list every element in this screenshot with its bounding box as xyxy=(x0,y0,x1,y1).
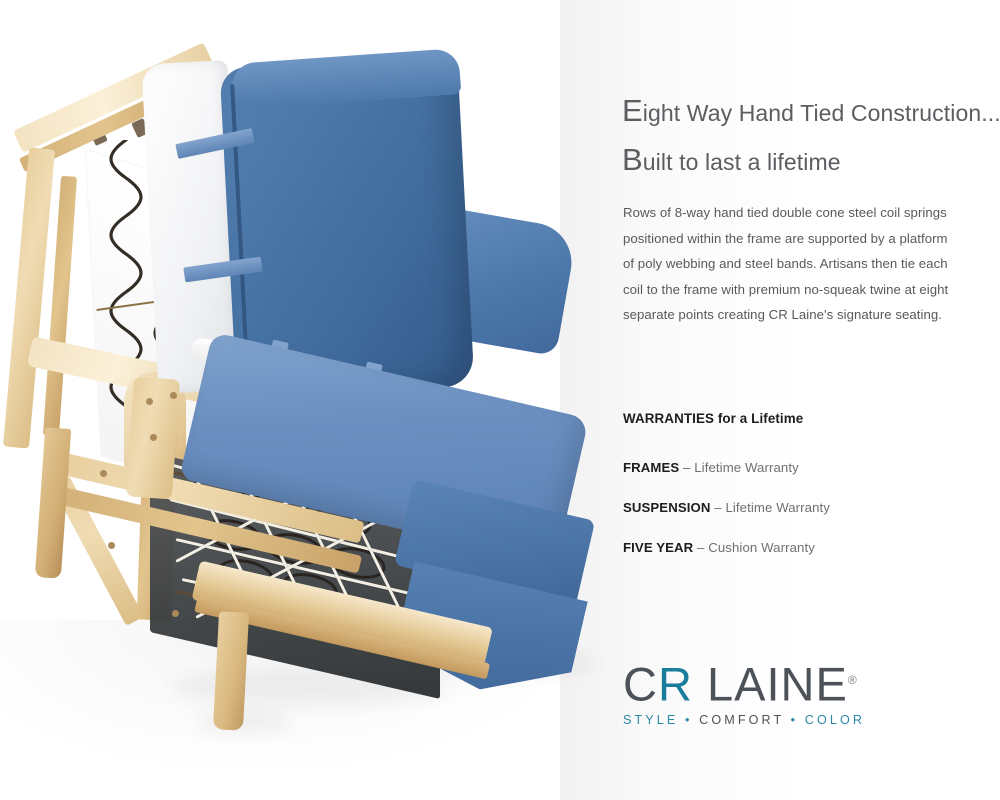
dowel-hole xyxy=(146,398,153,405)
tagline-dot-icon: • xyxy=(685,713,693,727)
headline-line-1-cap: E xyxy=(622,93,643,128)
logo-wordmark: CR LAINE® xyxy=(623,654,863,711)
shadow-leg-front xyxy=(196,712,292,732)
warranty-term: SUSPENSION xyxy=(623,500,710,515)
warranty-dash: – xyxy=(714,500,721,515)
logo-tagline: STYLE • COMFORT • COLOR xyxy=(623,713,863,727)
frame-leg-front xyxy=(213,611,249,730)
warranty-dash: – xyxy=(697,540,704,555)
warranty-desc: Cushion Warranty xyxy=(708,540,815,555)
logo-letter-r: R xyxy=(658,658,693,711)
dowel-hole xyxy=(170,392,177,399)
warranty-term: FRAMES xyxy=(623,460,679,475)
brand-logo: CR LAINE® STYLE • COMFORT • COLOR xyxy=(623,654,863,727)
warranties-heading: WARRANTIES for a Lifetime xyxy=(623,411,830,426)
warranty-row: FRAMES – Lifetime Warranty xyxy=(623,460,830,475)
logo-word-laine: LAINE xyxy=(693,658,848,711)
marketing-page: Eight Way Hand Tied Construction... Buil… xyxy=(0,0,1000,800)
headline-line-2: Built to last a lifetime xyxy=(622,143,1000,179)
headline-line-2-rest: uilt to last a lifetime xyxy=(643,149,841,175)
tagline-dot-icon: • xyxy=(791,713,799,727)
headline-line-1-rest: ight Way Hand Tied Construction... xyxy=(643,100,1000,126)
warranty-desc: Lifetime Warranty xyxy=(725,500,830,515)
warranty-desc: Lifetime Warranty xyxy=(694,460,799,475)
warranty-term: FIVE YEAR xyxy=(623,540,693,555)
dowel-hole xyxy=(172,610,179,617)
warranty-dash: – xyxy=(683,460,690,475)
dowel-hole xyxy=(150,434,157,441)
headline-line-2-cap: B xyxy=(622,142,643,177)
content-column: Eight Way Hand Tied Construction... Buil… xyxy=(622,0,1000,800)
registered-trademark-icon: ® xyxy=(848,673,857,687)
headline-line-1: Eight Way Hand Tied Construction... xyxy=(622,94,1000,130)
warranties-section: WARRANTIES for a Lifetime FRAMES – Lifet… xyxy=(623,411,830,555)
dowel-hole xyxy=(100,470,107,477)
dowel-hole xyxy=(108,542,115,549)
tagline-style: STYLE xyxy=(623,713,678,727)
frame-leg-rear xyxy=(35,427,71,578)
tagline-comfort: COMFORT xyxy=(699,713,784,727)
product-cutaway-photo xyxy=(0,0,620,800)
page-headline: Eight Way Hand Tied Construction... Buil… xyxy=(622,94,1000,179)
warranty-row: SUSPENSION – Lifetime Warranty xyxy=(623,500,830,515)
logo-letter-c: C xyxy=(623,658,658,711)
sinuous-spring-left xyxy=(96,140,99,430)
body-paragraph: Rows of 8-way hand tied double cone stee… xyxy=(623,200,953,328)
warranty-row: FIVE YEAR – Cushion Warranty xyxy=(623,540,830,555)
tagline-color: COLOR xyxy=(805,713,865,727)
